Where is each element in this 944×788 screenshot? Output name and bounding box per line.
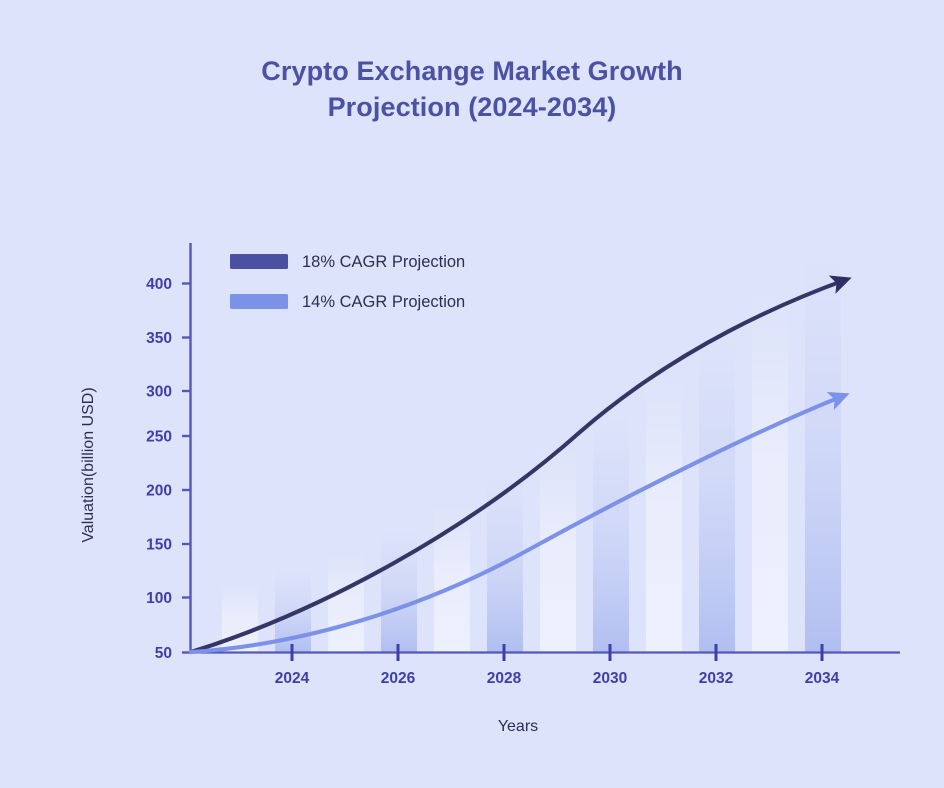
y-tick-label: 250	[146, 429, 172, 446]
legend-swatch-18-cagr[interactable]	[230, 254, 288, 269]
legend-label-18-cagr: 18% CAGR Projection	[302, 253, 465, 271]
background-bars	[222, 256, 841, 652]
legend-swatch-14-cagr[interactable]	[230, 294, 288, 309]
x-tick-label: 2026	[381, 670, 416, 687]
x-tick-label: 2024	[275, 670, 310, 687]
background-bar	[540, 448, 576, 652]
y-tick-label: 300	[146, 384, 172, 401]
chart-svg: 50 100 150 200 250 300 350 400 2024 2026…	[0, 0, 944, 788]
x-tick-label: 2032	[699, 670, 733, 687]
y-tick-label: 350	[146, 330, 172, 347]
x-axis-title: Years	[498, 718, 538, 735]
x-tick-labels: 2024 2026 2028 2030 2032 2034	[275, 670, 840, 687]
y-tick-label: 100	[146, 590, 172, 607]
background-bar	[699, 338, 735, 652]
legend: 18% CAGR Projection 14% CAGR Projection	[230, 253, 465, 311]
background-bar	[487, 478, 523, 652]
y-tick-label: 150	[146, 537, 172, 554]
background-bar	[752, 296, 788, 652]
background-bar	[328, 552, 364, 652]
x-tick-label: 2030	[593, 670, 627, 687]
y-tick-label: 400	[146, 276, 172, 293]
background-bar	[646, 378, 682, 652]
background-bar	[805, 256, 841, 652]
x-tick-label: 2028	[487, 670, 522, 687]
x-tick-label: 2034	[805, 670, 840, 687]
background-bar	[593, 415, 629, 652]
chart-container: Crypto Exchange Market Growth Projection…	[0, 0, 944, 788]
background-bar	[381, 531, 417, 652]
y-axis-title: Valuation(billion USD)	[80, 387, 97, 542]
y-tick-label: 200	[146, 483, 172, 500]
y-tick-labels: 50 100 150 200 250 300 350 400	[146, 276, 172, 662]
y-tick-label: 50	[155, 645, 172, 662]
legend-label-14-cagr: 14% CAGR Projection	[302, 293, 465, 311]
